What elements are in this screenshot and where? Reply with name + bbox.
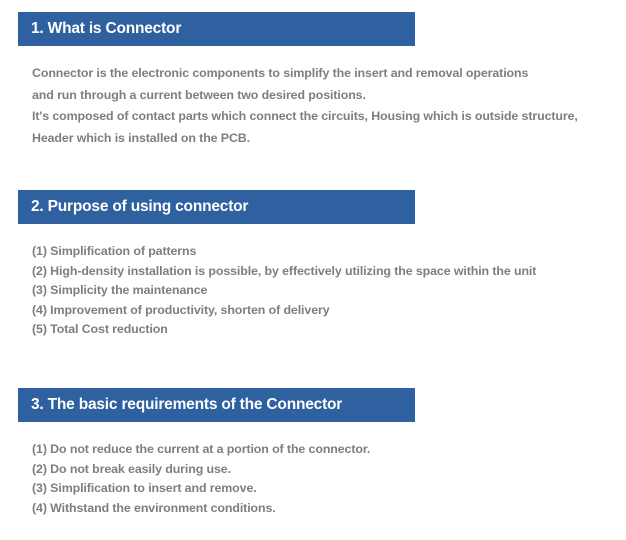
section-3-heading-text: 3. The basic requirements of the Connect… [31,397,342,413]
list-item: (3) Simplicity the maintenance [32,281,626,301]
section-3-heading-bar: 3. The basic requirements of the Connect… [18,388,415,422]
section-1-heading-bar: 1. What is Connector [18,12,415,46]
list-item: (2) High-density installation is possibl… [32,262,626,282]
list-item: (4) Improvement of productivity, shorten… [32,301,626,321]
section-2-heading-bar: 2. Purpose of using connector [18,190,415,224]
section-basic-requirements: 3. The basic requirements of the Connect… [0,388,626,518]
section-what-is-connector: 1. What is Connector Connector is the el… [0,12,626,149]
section-1-heading-text: 1. What is Connector [31,21,181,37]
list-item: (1) Simplification of patterns [32,242,626,262]
body-line: and run through a current between two de… [32,85,626,107]
document-page: 1. What is Connector Connector is the el… [0,0,626,540]
body-line: Header which is installed on the PCB. [32,128,626,150]
body-line: Connector is the electronic components t… [32,63,626,85]
list-item: (5) Total Cost reduction [32,320,626,340]
section-1-body: Connector is the electronic components t… [32,63,626,149]
section-2-heading-text: 2. Purpose of using connector [31,199,248,215]
list-item: (1) Do not reduce the current at a porti… [32,440,626,460]
section-purpose-of-using-connector: 2. Purpose of using connector (1) Simpli… [0,190,626,340]
section-2-list: (1) Simplification of patterns (2) High-… [32,242,626,340]
body-line: It's composed of contact parts which con… [32,106,626,128]
list-item: (3) Simplification to insert and remove. [32,479,626,499]
list-item: (4) Withstand the environment conditions… [32,499,626,519]
section-3-list: (1) Do not reduce the current at a porti… [32,440,626,518]
list-item: (2) Do not break easily during use. [32,460,626,480]
